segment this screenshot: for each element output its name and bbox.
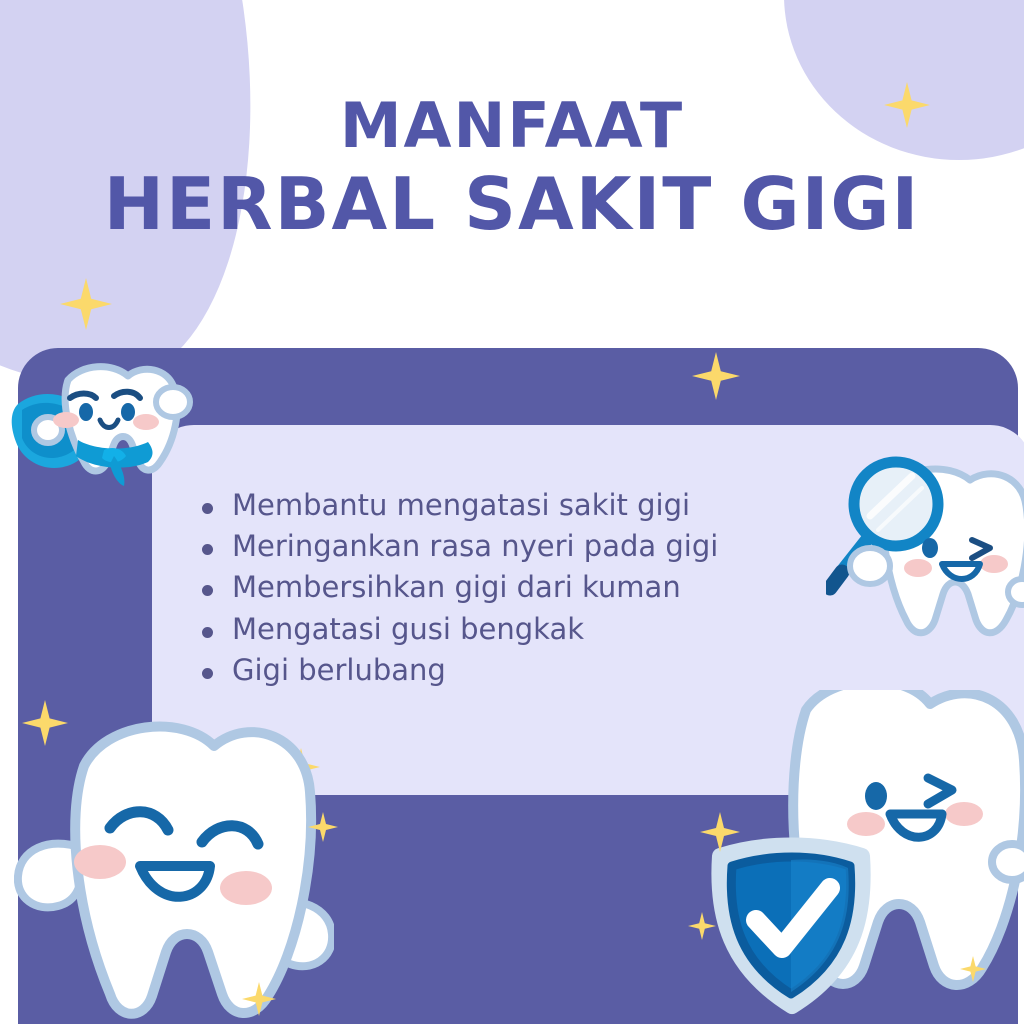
hero-tooth-character <box>8 358 213 503</box>
list-item: Meringankan rasa nyeri pada gigi <box>194 526 894 567</box>
benefits-list: Membantu mengatasi sakit gigi Meringanka… <box>194 485 894 691</box>
list-item: Membersihkan gigi dari kuman <box>194 567 894 608</box>
list-item: Gigi berlubang <box>194 650 894 691</box>
title-line-2: HERBAL SAKIT GIGI <box>0 169 1024 240</box>
list-item: Mengatasi gusi bengkak <box>194 609 894 650</box>
title-line-1: MANFAAT <box>0 96 1024 157</box>
magnifier-tooth-character <box>826 452 1024 642</box>
poster-title: MANFAAT HERBAL SAKIT GIGI <box>0 96 1024 239</box>
strong-tooth-character <box>14 700 334 1024</box>
poster-canvas: MANFAAT HERBAL SAKIT GIGI Membantu menga… <box>0 0 1024 1024</box>
list-item: Membantu mengatasi sakit gigi <box>194 485 894 526</box>
